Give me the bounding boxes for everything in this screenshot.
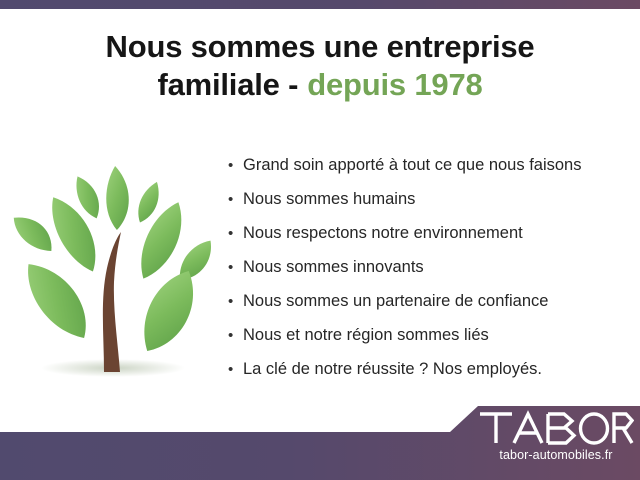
bullet-point-icon: • bbox=[228, 183, 243, 217]
list-item: • Nous sommes un partenaire de confiance bbox=[228, 284, 628, 318]
headline-plain-part: familiale - bbox=[157, 67, 298, 102]
logo-tagline: tabor-automobiles.fr bbox=[478, 448, 634, 462]
logo-wordmark bbox=[478, 410, 634, 446]
bullet-point-icon: • bbox=[228, 149, 243, 183]
list-item-label: Nous sommes un partenaire de confiance bbox=[243, 284, 548, 318]
tree-trunk bbox=[103, 232, 121, 372]
list-item-label: Nous et notre région sommes liés bbox=[243, 318, 489, 352]
slide-canvas: Nous sommes une entreprise familiale -de… bbox=[0, 0, 640, 480]
list-item-label: Nous sommes innovants bbox=[243, 250, 424, 284]
headline-line-1: Nous sommes une entreprise bbox=[106, 29, 535, 64]
list-item-label: Grand soin apporté à tout ce que nous fa… bbox=[243, 148, 581, 182]
bullet-point-icon: • bbox=[228, 251, 243, 285]
headline-accent-part: depuis 1978 bbox=[307, 67, 482, 102]
list-item: • Grand soin apporté à tout ce que nous … bbox=[228, 148, 628, 182]
list-item: • Nous respectons notre environnement bbox=[228, 216, 628, 250]
list-item-label: Nous respectons notre environnement bbox=[243, 216, 523, 250]
list-item-label: Nous sommes humains bbox=[243, 182, 415, 216]
list-item: • Nous sommes humains bbox=[228, 182, 628, 216]
tree-illustration bbox=[8, 150, 228, 390]
list-item-label: La clé de notre réussite ? Nos employés. bbox=[243, 352, 542, 386]
bullet-point-icon: • bbox=[228, 285, 243, 319]
bullet-point-icon: • bbox=[228, 319, 243, 353]
bullet-point-icon: • bbox=[228, 353, 243, 387]
top-accent-stripe bbox=[0, 0, 640, 9]
bullet-point-icon: • bbox=[228, 217, 243, 251]
page-title: Nous sommes une entreprise familiale -de… bbox=[60, 28, 580, 104]
list-item: • Nous et notre région sommes liés bbox=[228, 318, 628, 352]
list-item: • Nous sommes innovants bbox=[228, 250, 628, 284]
value-bullet-list: • Grand soin apporté à tout ce que nous … bbox=[228, 148, 628, 386]
brand-logo[interactable]: tabor-automobiles.fr bbox=[478, 410, 640, 476]
list-item: • La clé de notre réussite ? Nos employé… bbox=[228, 352, 628, 386]
headline-line-2: familiale -depuis 1978 bbox=[60, 66, 580, 104]
